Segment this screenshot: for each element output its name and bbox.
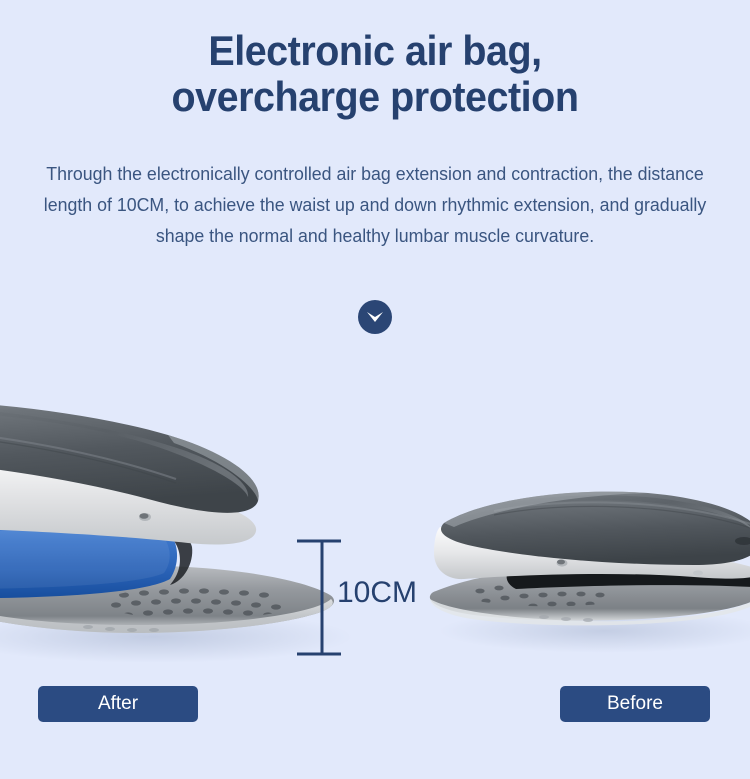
product-feature-page: Electronic air bag, overcharge protectio… <box>0 0 750 779</box>
before-button[interactable]: Before <box>560 686 710 722</box>
product-image-before <box>424 441 750 671</box>
port-small <box>693 570 703 575</box>
dimension-label: 10CM <box>337 576 417 610</box>
feature-description: Through the electronically controlled ai… <box>32 158 717 251</box>
headline-line-2: overcharge protection <box>23 74 728 120</box>
dimension-annotation: 10CM <box>297 533 437 663</box>
page-title: Electronic air bag, overcharge protectio… <box>23 28 728 120</box>
chevron-down-icon[interactable] <box>358 300 392 334</box>
headline-line-1: Electronic air bag, <box>23 28 728 74</box>
after-button[interactable]: After <box>38 686 198 722</box>
